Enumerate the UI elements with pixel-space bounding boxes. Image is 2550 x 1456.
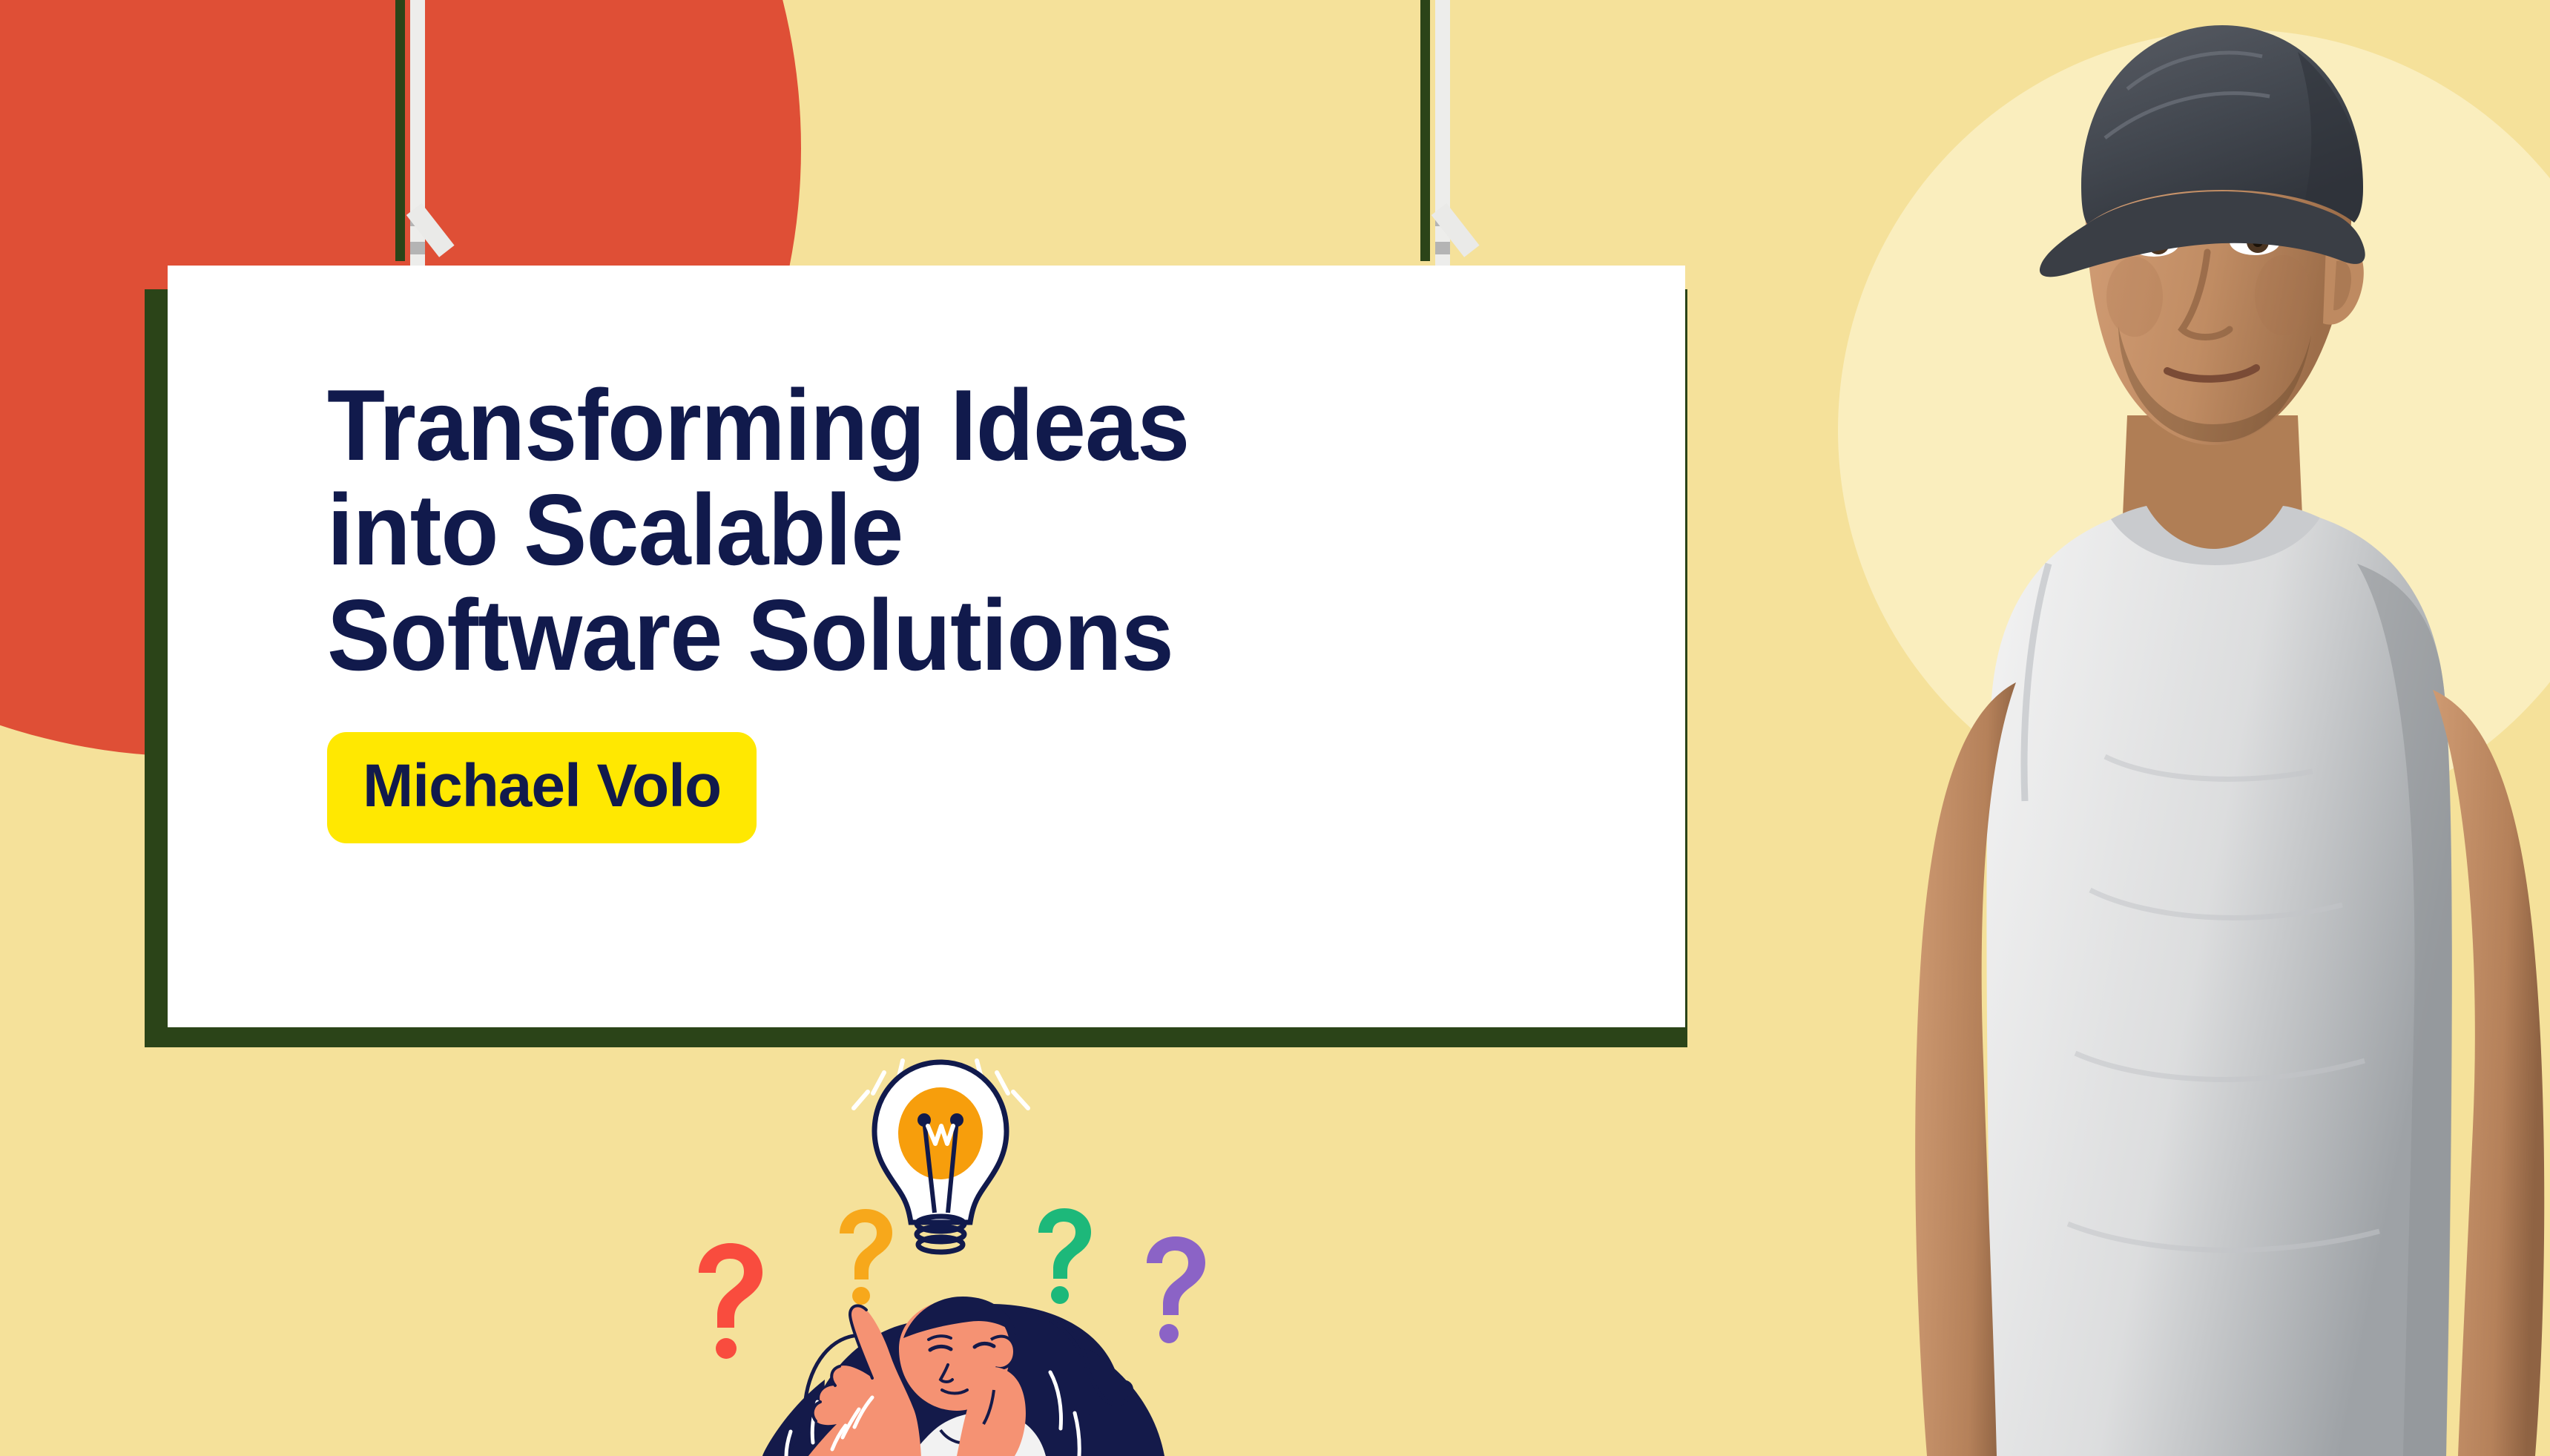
speaker-name-badge: Michael Volo bbox=[327, 732, 757, 843]
question-mark-green bbox=[1038, 1208, 1091, 1304]
title-card-content: Transforming Ideas into Scalable Softwar… bbox=[327, 373, 1685, 1027]
cord-green-line-right bbox=[1420, 0, 1430, 261]
idea-lightbulb-icon bbox=[874, 1062, 1007, 1252]
question-mark-purple bbox=[1147, 1236, 1205, 1343]
presenter-tshirt bbox=[1986, 506, 2451, 1456]
cord-notch-right-2 bbox=[1435, 242, 1450, 254]
page-title: Transforming Ideas into Scalable Softwar… bbox=[327, 373, 1604, 688]
presenter-portrait bbox=[1882, 0, 2550, 1456]
presenter-cap bbox=[2040, 25, 2365, 277]
question-mark-red bbox=[699, 1243, 762, 1359]
cord-notch-left-2 bbox=[410, 242, 425, 254]
slide-canvas: Transforming Ideas into Scalable Softwar… bbox=[0, 0, 2550, 1456]
hanging-cord-right bbox=[1420, 0, 1480, 312]
question-mark-orange bbox=[840, 1209, 892, 1305]
cord-green-line-left bbox=[395, 0, 405, 261]
title-card: Transforming Ideas into Scalable Softwar… bbox=[168, 266, 1685, 1027]
hanging-cord-left bbox=[395, 0, 455, 312]
thinking-woman-illustration bbox=[645, 1038, 1209, 1456]
